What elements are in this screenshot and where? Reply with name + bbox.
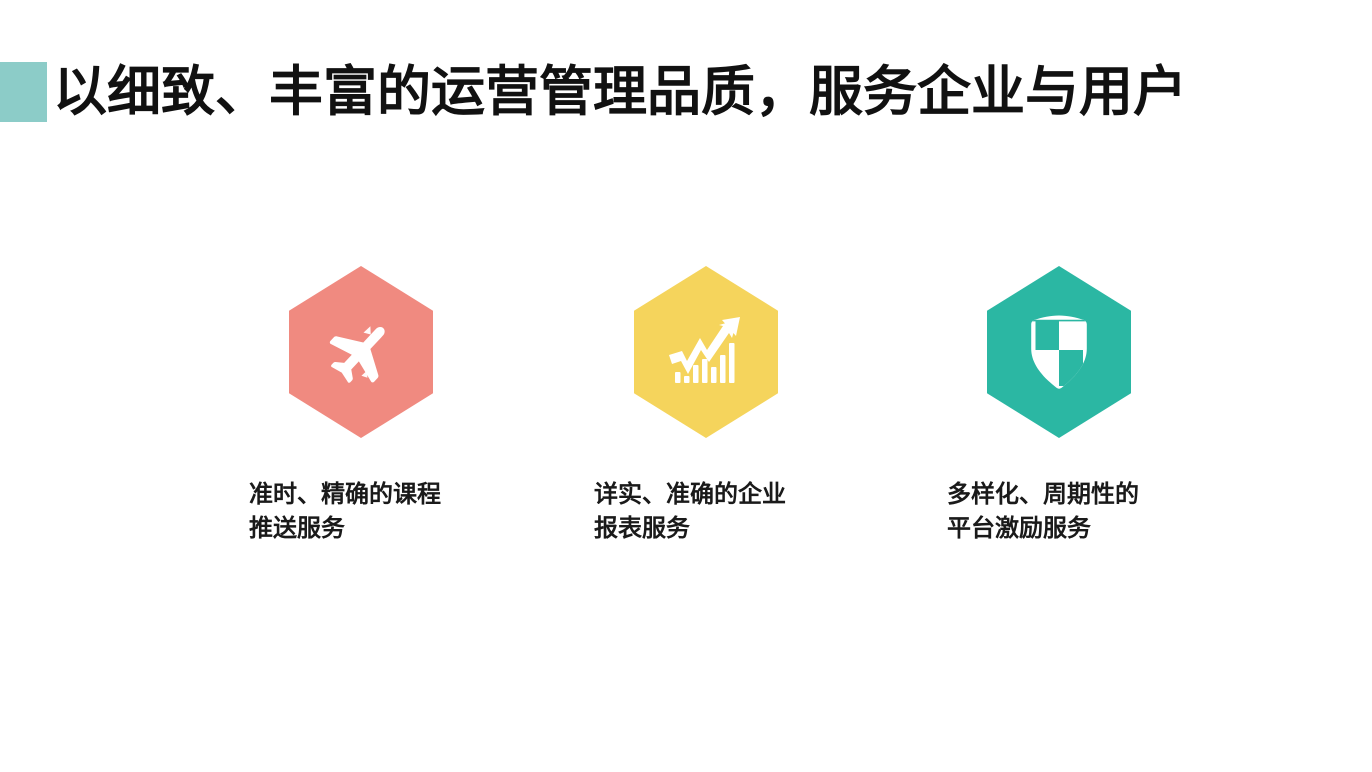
feature-card-course-push[interactable]: 准时、精确的课程 推送服务 <box>249 266 473 438</box>
hex-badge-wrapper <box>594 266 818 438</box>
hexagon-shape <box>634 266 778 438</box>
feature-caption: 详实、准确的企业 报表服务 <box>594 478 786 546</box>
slide-canvas: 以细致、丰富的运营管理品质，服务企业与用户 <box>0 0 1372 772</box>
feature-caption: 准时、精确的课程 推送服务 <box>249 478 441 546</box>
shield-icon <box>1028 314 1090 390</box>
feature-card-platform-incentive[interactable]: 多样化、周期性的 平台激励服务 <box>947 266 1171 438</box>
hex-badge-wrapper <box>249 266 473 438</box>
airplane-icon <box>325 316 397 388</box>
feature-caption: 多样化、周期性的 平台激励服务 <box>947 478 1139 546</box>
hexagon-shape <box>289 266 433 438</box>
feature-card-enterprise-report[interactable]: 详实、准确的企业 报表服务 <box>594 266 818 438</box>
hexagon-shape <box>987 266 1131 438</box>
hex-badge-wrapper <box>947 266 1171 438</box>
growth-chart-icon <box>666 314 746 390</box>
feature-card-group: 准时、精确的课程 推送服务 <box>0 0 1372 772</box>
